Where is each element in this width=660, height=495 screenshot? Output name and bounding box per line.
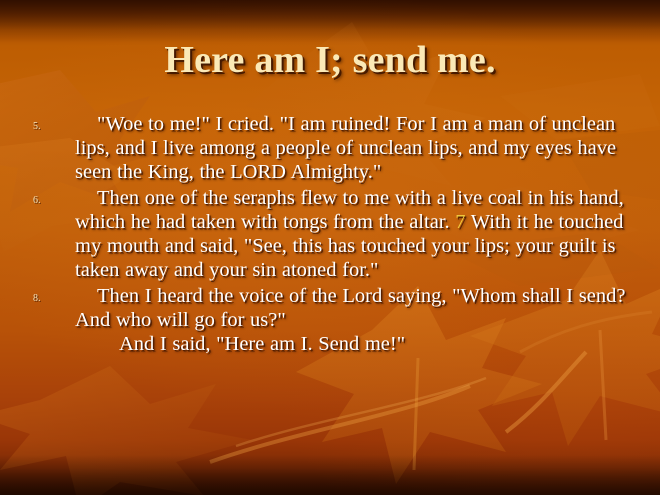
list-marker: 5.: [33, 122, 41, 132]
verse-number: 7: [455, 211, 465, 233]
slide-body-list: 5. "Woe to me!" I cried. "I am ruined! F…: [0, 112, 660, 357]
list-item-text: Then one of the seraphs flew to me with …: [75, 186, 638, 282]
list-item: 8. Then I heard the voice of the Lord sa…: [0, 284, 660, 356]
list-item-lead: Then I heard the voice of the Lord sayin…: [75, 285, 516, 307]
list-marker: 6.: [33, 196, 41, 206]
list-item-lead: "Woe to me!" I cried. "I am ruined! For …: [75, 113, 523, 135]
list-item-text: "Woe to me!" I cried. "I am ruined! For …: [75, 112, 638, 184]
list-item-extra-line: And I said, "Here am I. Send me!": [75, 332, 638, 356]
list-marker: 8.: [33, 294, 41, 304]
list-item: 5. "Woe to me!" I cried. "I am ruined! F…: [0, 112, 660, 184]
list-item: 6. Then one of the seraphs flew to me wi…: [0, 186, 660, 282]
slide-title: Here am I; send me.: [0, 38, 660, 82]
list-item-lead: Then one of the seraphs flew to me with …: [75, 187, 522, 209]
presentation-slide: Here am I; send me. 5. "Woe to me!" I cr…: [0, 0, 660, 495]
list-item-text: Then I heard the voice of the Lord sayin…: [75, 284, 638, 356]
